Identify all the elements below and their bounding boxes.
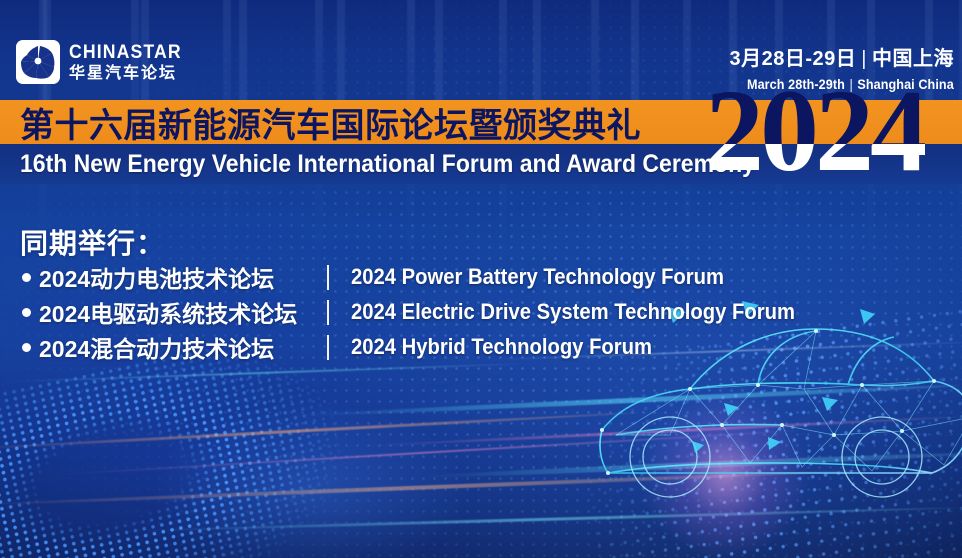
bullet-icon [22, 308, 31, 317]
light-streak [0, 469, 860, 508]
forum-name-cn: 2024电驱动系统技术论坛 [39, 295, 319, 329]
list-item: 2024混合动力技术论坛 2024 Hybrid Technology Foru… [22, 332, 834, 362]
brand-name-cn: 华星汽车论坛 [69, 66, 190, 82]
bullet-icon [22, 273, 31, 282]
light-streak [0, 411, 640, 452]
light-streak [120, 506, 960, 532]
forum-name-en: 2024 Power Battery Technology Forum [351, 264, 724, 290]
forum-list: 2024动力电池技术论坛 2024 Power Battery Technolo… [22, 262, 834, 367]
light-streak [41, 429, 800, 476]
list-item: 2024动力电池技术论坛 2024 Power Battery Technolo… [22, 262, 834, 292]
light-streak [420, 450, 962, 479]
magenta-glow [640, 390, 810, 558]
divider [327, 335, 329, 360]
star-flower-logo-icon [16, 40, 60, 84]
blue-glow [150, 400, 470, 558]
forum-name-cn: 2024动力电池技术论坛 [39, 260, 319, 294]
forum-name-en: 2024 Hybrid Technology Forum [351, 334, 652, 360]
event-date-cn: 3月28日-29日 [730, 48, 857, 70]
page-title-cn: 第十六届新能源汽车国际论坛暨颁奖典礼 [20, 100, 641, 144]
bullet-icon [22, 343, 31, 352]
event-date-cn-line: 3月28日-29日|中国上海 [724, 42, 954, 71]
page-title-en: 16th New Energy Vehicle International Fo… [20, 145, 755, 183]
divider [327, 300, 329, 325]
event-location-cn: 中国上海 [872, 48, 954, 70]
separator: | [856, 48, 872, 70]
forum-name-cn: 2024混合动力技术论坛 [39, 330, 319, 364]
poster-banner: CHINASTAR 华星汽车论坛 3月28日-29日|中国上海 March 28… [0, 0, 962, 558]
light-streak [360, 415, 959, 447]
brand-logo[interactable]: CHINASTAR 华星汽车论坛 [16, 40, 190, 84]
divider [327, 265, 329, 290]
concurrent-events-heading: 同期举行： [20, 222, 165, 262]
list-item: 2024电驱动系统技术论坛 2024 Electric Drive System… [22, 297, 834, 327]
forum-name-en: 2024 Electric Drive System Technology Fo… [351, 299, 795, 325]
light-streak [300, 383, 960, 418]
brand-name-en: CHINASTAR [69, 43, 182, 62]
